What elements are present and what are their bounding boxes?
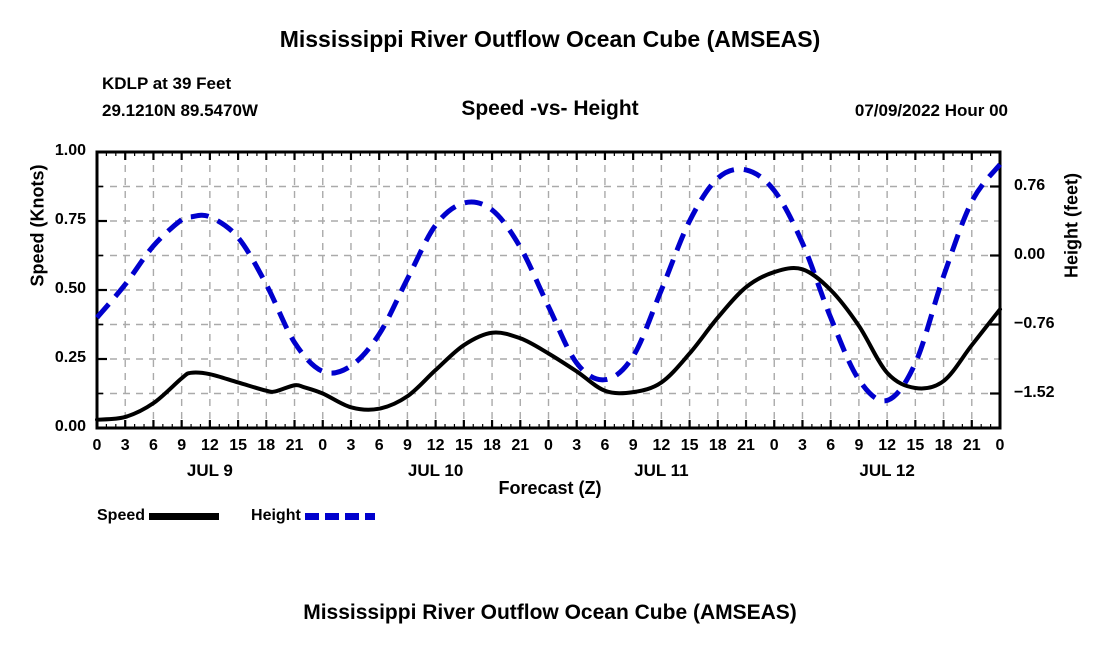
x-axis-tick-label: 21 <box>731 437 761 455</box>
x-axis-tick-label: 12 <box>646 437 676 455</box>
x-axis-tick-label: 0 <box>308 437 338 455</box>
x-axis-tick-label: 12 <box>195 437 225 455</box>
chart-plot-area <box>0 0 1100 650</box>
x-axis-tick-label: 0 <box>985 437 1015 455</box>
x-axis-tick-label: 12 <box>872 437 902 455</box>
legend-label-height: Height <box>251 507 301 525</box>
x-axis-tick-label: 6 <box>138 437 168 455</box>
x-axis-tick-label: 18 <box>477 437 507 455</box>
x-axis-day-label: JUL 10 <box>366 461 506 481</box>
y-axis-right-tick-label: −0.76 <box>1014 315 1094 333</box>
y-axis-left-tick-label: 0.25 <box>16 349 86 367</box>
legend-swatch-speed <box>149 513 219 520</box>
x-axis-tick-label: 21 <box>505 437 535 455</box>
x-axis-tick-label: 9 <box>392 437 422 455</box>
x-axis-tick-label: 3 <box>562 437 592 455</box>
x-axis-day-label: JUL 11 <box>591 461 731 481</box>
x-axis-tick-label: 18 <box>703 437 733 455</box>
chart-page: Mississippi River Outflow Ocean Cube (AM… <box>0 0 1100 650</box>
x-axis-tick-label: 15 <box>223 437 253 455</box>
x-axis-tick-label: 0 <box>82 437 112 455</box>
x-axis-day-label: JUL 12 <box>817 461 957 481</box>
y-axis-left-tick-label: 0.50 <box>16 280 86 298</box>
x-axis-tick-label: 9 <box>844 437 874 455</box>
x-axis-tick-label: 15 <box>449 437 479 455</box>
x-axis-tick-label: 18 <box>929 437 959 455</box>
y-axis-right-tick-label: 0.00 <box>1014 246 1094 264</box>
y-axis-left-tick-label: 0.75 <box>16 211 86 229</box>
x-axis-tick-label: 18 <box>251 437 281 455</box>
x-axis-tick-label: 6 <box>816 437 846 455</box>
x-axis-tick-label: 3 <box>110 437 140 455</box>
x-axis-tick-label: 6 <box>364 437 394 455</box>
x-axis-tick-label: 15 <box>900 437 930 455</box>
y-axis-right-tick-label: −1.52 <box>1014 384 1094 402</box>
x-axis-tick-label: 15 <box>675 437 705 455</box>
x-axis-tick-label: 6 <box>590 437 620 455</box>
x-axis-tick-label: 3 <box>787 437 817 455</box>
x-axis-tick-label: 3 <box>336 437 366 455</box>
page-title-bottom: Mississippi River Outflow Ocean Cube (AM… <box>0 601 1100 625</box>
y-axis-left-tick-label: 0.00 <box>16 418 86 436</box>
series-line-speed <box>97 268 1000 420</box>
y-axis-left-tick-label: 1.00 <box>16 142 86 160</box>
x-axis-tick-label: 0 <box>534 437 564 455</box>
legend-swatch-height <box>305 513 375 520</box>
x-axis-tick-label: 21 <box>280 437 310 455</box>
x-axis-tick-label: 21 <box>957 437 987 455</box>
x-axis-tick-label: 9 <box>618 437 648 455</box>
x-axis-tick-label: 0 <box>759 437 789 455</box>
y-axis-right-tick-label: 0.76 <box>1014 177 1094 195</box>
x-axis-day-label: JUL 9 <box>140 461 280 481</box>
x-axis-tick-label: 12 <box>421 437 451 455</box>
x-axis-tick-label: 9 <box>167 437 197 455</box>
legend-label-speed: Speed <box>97 507 145 525</box>
legend: Speed Height <box>97 507 375 525</box>
